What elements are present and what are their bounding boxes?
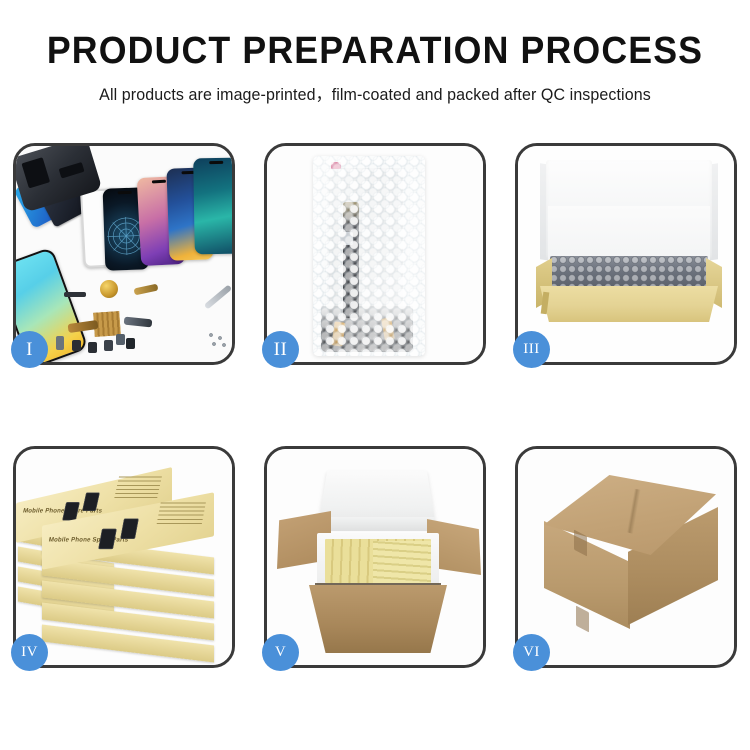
carton-tape-lower [576,606,589,633]
box-screen-graphic [98,529,117,549]
foam-lid-edge [319,517,435,531]
step-panel-6[interactable]: VI [515,446,737,668]
plastic-sheen [313,156,425,356]
step-badge-1: I [11,331,48,368]
box-front-gold [540,286,718,322]
step-panel-1[interactable]: I [13,143,235,365]
step-panel-2[interactable]: II [264,143,486,365]
carton-front-panel [309,585,447,653]
gold-box-stack: Mobile Phone Spare Parts Mobile Phone Sp… [16,449,232,665]
step-image-6 [518,449,734,665]
bubble-texture [550,256,708,290]
step-badge-4: IV [11,634,48,671]
phone-screen-teal [193,158,232,255]
small-part [88,342,97,353]
screws-group [208,332,228,348]
product-preparation-infographic: PRODUCT PREPARATION PROCESS All products… [0,0,750,750]
step-panel-5[interactable]: V [264,446,486,668]
step-badge-6: VI [513,634,550,671]
flex-cable-gray [124,317,153,328]
process-steps-grid: I II [13,143,737,668]
flex-cable-gold-2 [134,284,159,296]
box-label: Mobile Phone Spare Parts [48,537,129,544]
step-image-3 [518,146,734,362]
step-badge-2: II [262,331,299,368]
tweezers-tool [204,284,232,309]
housing-cutout [59,162,85,179]
small-part [104,340,113,351]
small-part [72,340,81,351]
step-image-1 [16,146,232,362]
small-part [116,334,125,345]
step-badge-3: III [513,331,550,368]
step-badge-5: V [262,634,299,671]
step-panel-3[interactable]: III [515,143,737,365]
gold-boxes-inside-2 [373,541,431,583]
small-part [56,336,64,350]
phone-notch [209,161,223,164]
small-part [126,338,135,349]
box-spec-lines [114,477,162,500]
page-title: PRODUCT PREPARATION PROCESS [23,32,728,72]
step-panel-4[interactable]: Mobile Phone Spare Parts Mobile Phone Sp… [13,446,235,668]
speaker-part [64,292,86,297]
step-image-4: Mobile Phone Spare Parts Mobile Phone Sp… [16,449,232,665]
page-subtitle: All products are image-printed，film-coat… [11,81,739,105]
bubble-wrapped-contents [550,256,708,290]
step-image-2 [267,146,483,362]
header: PRODUCT PREPARATION PROCESS All products… [0,0,750,105]
camera-module [21,157,50,188]
box-screen-graphic [120,519,139,539]
phone-notch [152,180,166,184]
box-spec-lines [156,502,206,526]
wireless-charging-coil [100,280,118,298]
phone-notch [118,191,132,194]
step-image-5 [267,449,483,665]
bubble-wrapped-screen [313,156,425,356]
